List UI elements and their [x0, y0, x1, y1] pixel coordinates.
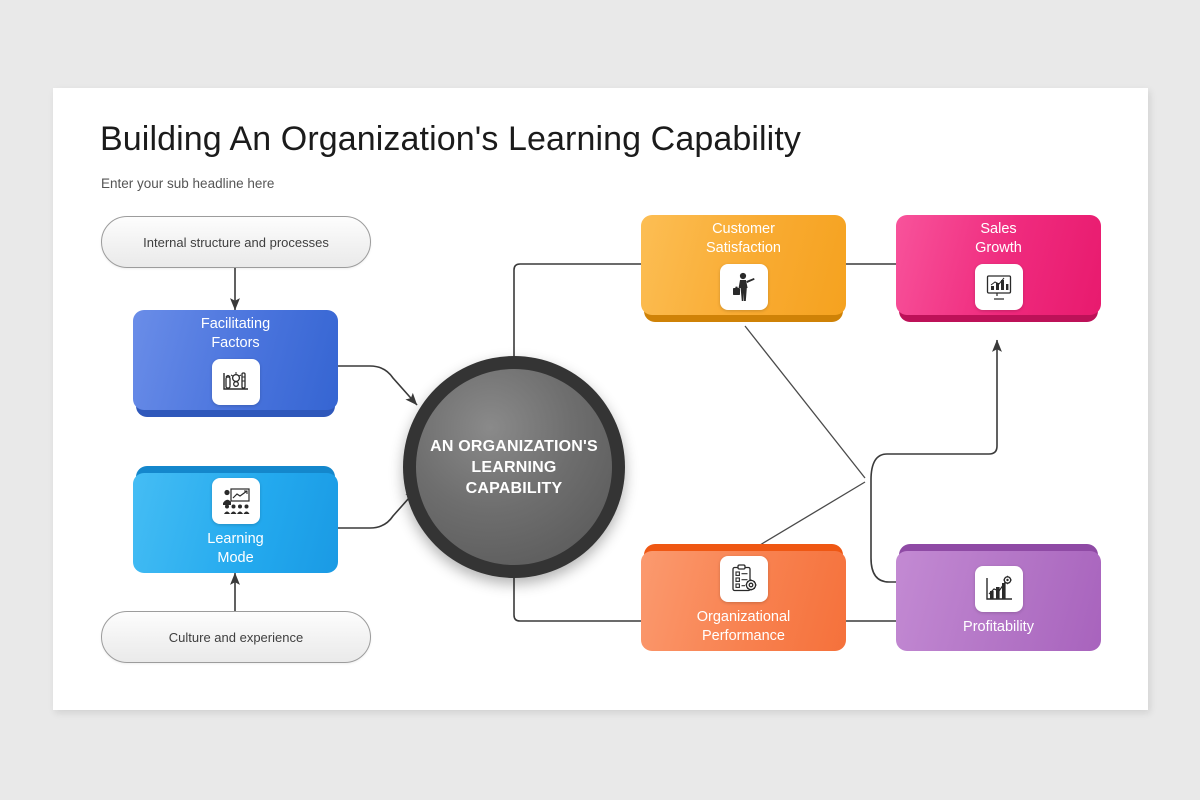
card-learning-mode[interactable]: Learning Mode [133, 473, 338, 573]
hub-circle[interactable]: AN ORGANIZATION'S LEARNING CAPABILITY [403, 356, 625, 578]
card-sales-growth[interactable]: Sales Growth [896, 215, 1101, 315]
icon-wrap [720, 264, 768, 310]
card-customer-satisfaction[interactable]: Customer Satisfaction [641, 215, 846, 315]
card-organizational-performance[interactable]: Organizational Performance [641, 551, 846, 651]
input-pill-internal-structure-label: Internal structure and processes [143, 235, 329, 250]
card-profitability-label: Profitability [963, 618, 1034, 637]
card-organizational-performance-label: Organizational Performance [697, 608, 791, 646]
card-sales-growth-label: Sales Growth [975, 220, 1022, 258]
page-title: Building An Organization's Learning Capa… [100, 120, 801, 159]
connector-diagonal-upper [745, 326, 865, 478]
slide-canvas: Building An Organization's Learning Capa… [53, 88, 1148, 710]
training-presentation-icon [212, 478, 260, 524]
page-subtitle: Enter your sub headline here [101, 176, 274, 191]
clipboard-gear-icon [720, 556, 768, 602]
input-pill-internal-structure[interactable]: Internal structure and processes [101, 216, 371, 268]
card-learning-mode-label: Learning Mode [207, 530, 263, 568]
icon-wrap [975, 264, 1023, 310]
bar-chart-monitor-icon [975, 264, 1023, 310]
input-pill-culture-experience[interactable]: Culture and experience [101, 611, 371, 663]
slide-stage: Building An Organization's Learning Capa… [0, 0, 1200, 800]
icon-wrap [212, 478, 260, 524]
card-profitability[interactable]: Profitability [896, 551, 1101, 651]
connector-bus-to-sales [871, 340, 997, 480]
card-facilitating-factors[interactable]: Facilitating Factors [133, 310, 338, 410]
connector-facilitating-to-hub [338, 366, 417, 405]
icon-wrap [975, 566, 1023, 612]
hub-inner: AN ORGANIZATION'S LEARNING CAPABILITY [416, 369, 612, 565]
connector-learning-to-hub [338, 489, 417, 528]
icon-wrap [212, 359, 260, 405]
hub-label: AN ORGANIZATION'S LEARNING CAPABILITY [430, 436, 598, 499]
card-customer-satisfaction-label: Customer Satisfaction [706, 220, 781, 258]
icon-wrap [720, 556, 768, 602]
input-pill-culture-experience-label: Culture and experience [169, 630, 303, 645]
card-facilitating-factors-label: Facilitating Factors [201, 315, 270, 353]
lab-equipment-icon [212, 359, 260, 405]
business-person-icon [720, 264, 768, 310]
growth-chart-icon [975, 566, 1023, 612]
